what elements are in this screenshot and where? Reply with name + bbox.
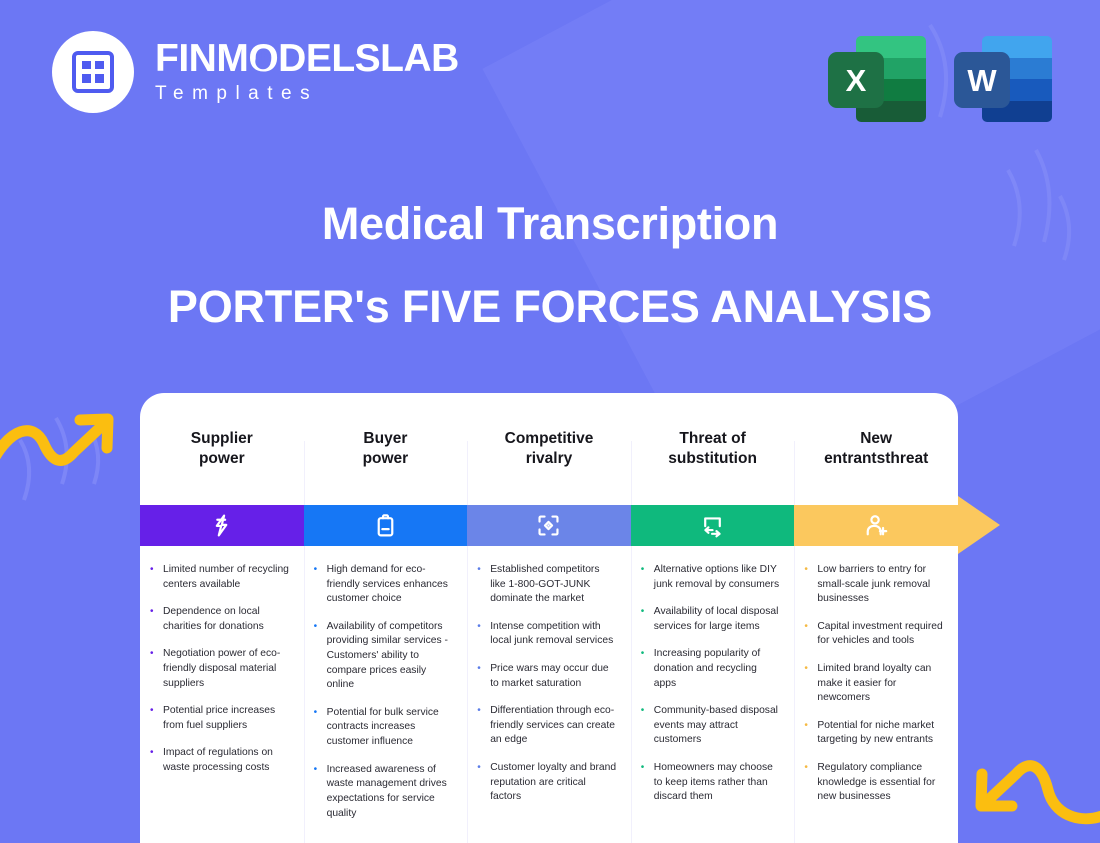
- force-column: Buyer power High demand for eco-friendly…: [304, 393, 468, 843]
- exchange-arrows-icon: [700, 513, 725, 538]
- force-bullet-item: Differentiation through eco-friendly ser…: [476, 704, 618, 748]
- force-column: Threat of substitution Alternative optio…: [631, 393, 795, 843]
- force-bullet-item: Increasing popularity of donation and re…: [640, 647, 782, 691]
- force-icon-band: [794, 505, 958, 546]
- force-bullet-item: Dependence on local charities for donati…: [149, 605, 291, 634]
- force-bullet-item: Capital investment required for vehicles…: [803, 620, 945, 649]
- force-body: High demand for eco-friendly services en…: [304, 546, 468, 843]
- force-bullet-item: Homeowners may choose to keep items rath…: [640, 761, 782, 805]
- force-bullet-item: Intense competition with local junk remo…: [476, 620, 618, 649]
- force-column: Supplier power Limited number of recycli…: [140, 393, 304, 843]
- force-bullet-item: Low barriers to entry for small-scale ju…: [803, 563, 945, 607]
- title-block: Medical Transcription PORTER's FIVE FORC…: [0, 196, 1100, 336]
- force-column: New entrantsthreat Low barriers to entry…: [794, 393, 958, 843]
- force-header: Supplier power: [140, 393, 304, 505]
- force-header: Competitive rivalry: [467, 393, 631, 505]
- grid-squares-icon: [70, 49, 116, 95]
- force-bullet-item: Limited number of recycling centers avai…: [149, 563, 291, 592]
- force-bullet-item: Potential price increases from fuel supp…: [149, 704, 291, 733]
- force-bullet-item: Alternative options like DIY junk remova…: [640, 563, 782, 592]
- word-letter: W: [967, 65, 996, 96]
- brand-name: FINMO DELSLAB: [155, 39, 459, 79]
- excel-letter-tile: X: [828, 52, 884, 108]
- force-bullet-list: Limited number of recycling centers avai…: [149, 563, 291, 776]
- focus-target-icon: [536, 513, 561, 538]
- force-body: Low barriers to entry for small-scale ju…: [794, 546, 958, 843]
- brand-wordmark: FINMO DELSLAB Templates: [155, 39, 459, 105]
- force-bullet-item: Community-based disposal events may attr…: [640, 704, 782, 748]
- force-bullet-item: Potential for niche market targeting by …: [803, 719, 945, 748]
- force-header: New entrantsthreat: [794, 393, 958, 505]
- force-icon-band: [467, 505, 631, 546]
- brand-badge: [52, 31, 134, 113]
- force-bullet-item: Availability of local disposal services …: [640, 605, 782, 634]
- five-forces-card: Supplier power Limited number of recycli…: [140, 393, 958, 843]
- force-bullet-list: Established competitors like 1-800-GOT-J…: [476, 563, 618, 805]
- force-bullet-item: Negotiation power of eco-friendly dispos…: [149, 647, 291, 691]
- brand-name-part2: DELSLAB: [278, 37, 459, 80]
- force-icon-band: [140, 505, 304, 546]
- page-subtitle: PORTER's FIVE FORCES ANALYSIS: [0, 279, 1100, 335]
- format-icons: X W: [828, 28, 1052, 122]
- force-bullet-item: High demand for eco-friendly services en…: [313, 563, 455, 607]
- force-header: Buyer power: [304, 393, 468, 505]
- word-icon[interactable]: W: [954, 28, 1052, 122]
- force-body: Established competitors like 1-800-GOT-J…: [467, 546, 631, 843]
- word-letter-tile: W: [954, 52, 1010, 108]
- force-icon-band: [304, 505, 468, 546]
- clipboard-icon: [373, 513, 398, 538]
- force-columns: Supplier power Limited number of recycli…: [140, 393, 958, 843]
- squiggle-arrow-up-right-icon: [0, 404, 126, 484]
- force-body: Alternative options like DIY junk remova…: [631, 546, 795, 843]
- force-bullet-item: Availability of competitors providing si…: [313, 620, 455, 693]
- force-bullet-list: Low barriers to entry for small-scale ju…: [803, 563, 945, 805]
- lightning-bolt-icon: [209, 513, 234, 538]
- force-bullet-item: Impact of regulations on waste processin…: [149, 746, 291, 775]
- brand-name-letter-o: O: [248, 39, 278, 79]
- excel-icon[interactable]: X: [828, 28, 926, 122]
- power-symbol-icon: [252, 49, 274, 71]
- brand-tagline: Templates: [155, 83, 459, 105]
- force-icon-band: [631, 505, 795, 546]
- squiggle-arrow-down-left-icon: [958, 738, 1100, 826]
- force-header: Threat of substitution: [631, 393, 795, 505]
- force-bullet-item: Price wars may occur due to market satur…: [476, 662, 618, 691]
- force-bullet-list: High demand for eco-friendly services en…: [313, 563, 455, 821]
- force-bullet-item: Customer loyalty and brand reputation ar…: [476, 761, 618, 805]
- force-bullet-item: Increased awareness of waste management …: [313, 763, 455, 821]
- force-bullet-item: Regulatory compliance knowledge is essen…: [803, 761, 945, 805]
- force-bullet-item: Established competitors like 1-800-GOT-J…: [476, 563, 618, 607]
- force-bullet-item: Potential for bulk service contracts inc…: [313, 706, 455, 750]
- force-body: Limited number of recycling centers avai…: [140, 546, 304, 843]
- brand-logo: FINMO DELSLAB Templates: [52, 31, 459, 113]
- page-title: Medical Transcription: [0, 196, 1100, 252]
- force-column: Competitive rivalry Established competit…: [467, 393, 631, 843]
- band-arrow-tip: [958, 496, 1000, 554]
- force-bullet-list: Alternative options like DIY junk remova…: [640, 563, 782, 805]
- poster-canvas: FINMO DELSLAB Templates X: [0, 0, 1100, 843]
- excel-letter: X: [846, 65, 867, 96]
- brand-name-part1: FINM: [155, 37, 248, 80]
- add-user-icon: [864, 513, 889, 538]
- force-bullet-item: Limited brand loyalty can make it easier…: [803, 662, 945, 706]
